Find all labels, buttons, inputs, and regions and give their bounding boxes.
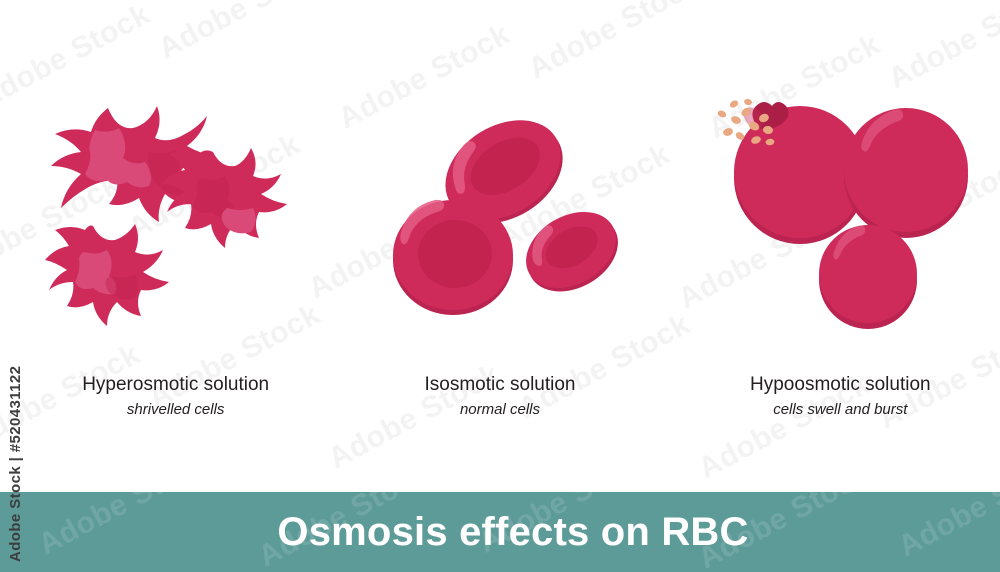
panel-isosmotic: Isosmotic solution normal cells [333, 0, 666, 492]
watermark-text: Adobe Stock [33, 492, 216, 562]
banner-title: Osmosis effects on RBC [251, 510, 748, 554]
panel-subtitle: cells swell and burst [681, 398, 1000, 422]
bottom-banner: Adobe Stock Adobe Stock Adobe Stock Adob… [0, 492, 1000, 572]
panel-title: Hypoosmotic solution [681, 372, 1000, 398]
biconcave-cell [393, 200, 513, 315]
shrivelled-cells-art [0, 95, 333, 345]
panel-subtitle: shrivelled cells [18, 398, 333, 422]
swollen-cells-svg [718, 88, 973, 338]
shrivelled-cells-svg [45, 100, 295, 340]
credit-label: Adobe Stock | #520431122 [7, 528, 24, 562]
watermark-text: Adobe Stock [893, 492, 1000, 564]
swollen-cell [844, 108, 968, 238]
shrivelled-cell [45, 224, 169, 326]
biconcave-cell [512, 197, 631, 307]
panel-title: Hyperosmotic solution [18, 372, 333, 398]
credit-strip: Adobe Stock | #520431122 [0, 0, 34, 572]
swollen-cells-art [667, 88, 1000, 338]
panel-subtitle: normal cells [333, 398, 666, 422]
shrivelled-cell [161, 148, 287, 248]
bursting-cell [716, 98, 865, 244]
panel-title: Isosmotic solution [333, 372, 666, 398]
caption-hyperosmotic: Hyperosmotic solution shrivelled cells [0, 372, 333, 422]
normal-cells-svg [375, 100, 625, 340]
caption-isosmotic: Isosmotic solution normal cells [333, 372, 666, 422]
panel-hypoosmotic: Hypoosmotic solution cells swell and bur… [667, 0, 1000, 492]
caption-hypoosmotic: Hypoosmotic solution cells swell and bur… [667, 372, 1000, 422]
illustration-canvas: Adobe Stock Adobe Stock Adobe Stock Adob… [0, 0, 1000, 572]
panels-row: Hyperosmotic solution shrivelled cells [0, 0, 1000, 492]
swollen-cell [819, 225, 917, 329]
panel-hyperosmotic: Hyperosmotic solution shrivelled cells [0, 0, 333, 492]
normal-cells-art [333, 95, 666, 345]
